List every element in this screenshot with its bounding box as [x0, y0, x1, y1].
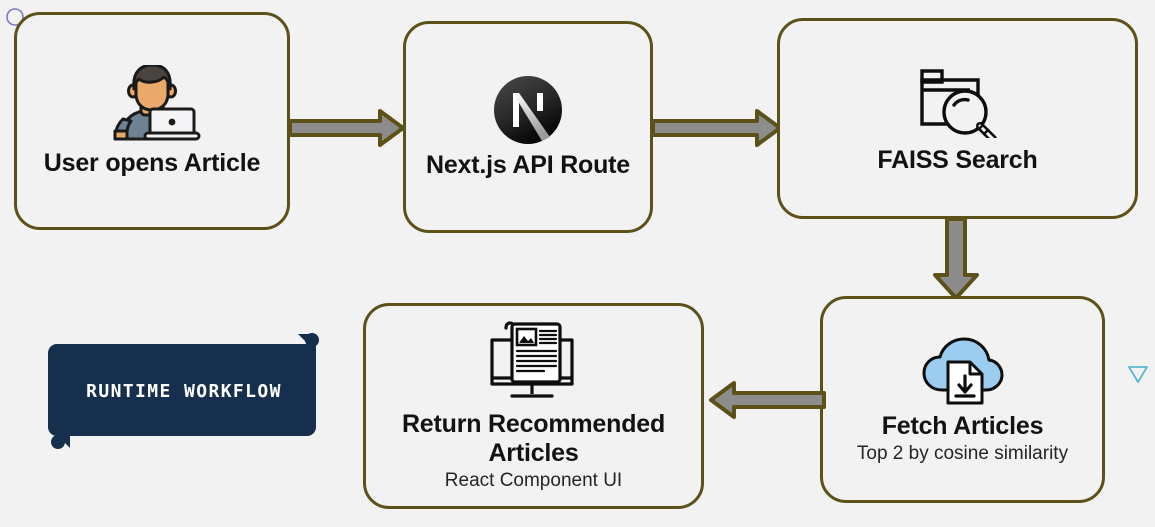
node-title: Fetch Articles — [882, 412, 1044, 441]
node-fetch-articles[interactable]: Fetch Articles Top 2 by cosine similarit… — [820, 296, 1105, 503]
newspaper-monitor-icon — [486, 320, 582, 404]
node-title: FAISS Search — [877, 146, 1037, 175]
node-title: Return Recommended Articles — [376, 410, 691, 468]
node-subtitle: Top 2 by cosine similarity — [857, 443, 1068, 466]
triangle-marker-icon — [1126, 362, 1150, 391]
folder-search-icon — [916, 62, 1000, 138]
person-at-laptop-icon — [103, 65, 201, 141]
nextjs-logo-icon — [493, 75, 563, 145]
arrow-fetch-to-return — [702, 380, 826, 425]
ribbon-shape — [44, 330, 324, 452]
node-user-opens-article[interactable]: User opens Article — [14, 12, 290, 230]
node-title: Next.js API Route — [426, 151, 630, 180]
node-return-recommended-articles[interactable]: Return Recommended Articles React Compon… — [363, 303, 704, 509]
node-title: User opens Article — [44, 149, 260, 178]
cloud-download-document-icon — [922, 334, 1004, 406]
node-subtitle: React Component UI — [445, 470, 622, 493]
arrow-user-to-api — [288, 108, 406, 153]
node-faiss-search[interactable]: FAISS Search — [777, 18, 1138, 219]
node-nextjs-api-route[interactable]: Next.js API Route — [403, 21, 653, 233]
runtime-workflow-banner: RUNTIME WORKFLOW — [44, 330, 324, 452]
workflow-diagram-canvas: User opens Article — [0, 0, 1155, 527]
arrow-api-to-faiss — [651, 108, 783, 153]
arrow-faiss-to-fetch — [932, 217, 980, 306]
